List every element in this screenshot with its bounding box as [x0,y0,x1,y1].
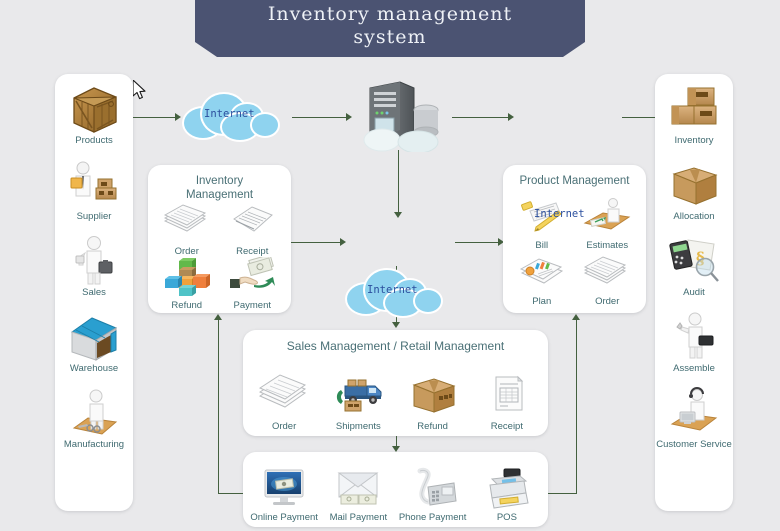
monitor-icon [257,467,311,511]
sidebar-left: Products Supplier [55,74,133,511]
documents-icon [255,372,313,420]
item-label: Order [272,421,296,432]
item-label: POS [497,512,517,523]
sidebar-item-manufacturing[interactable]: Manufacturing [55,386,133,450]
receipt-icon [226,203,278,245]
item-bill[interactable]: Bill [509,195,575,251]
calculator-magnifier-icon: § [666,234,722,286]
group-product-management: Product Management Bill [503,165,646,313]
page-title-banner: Inventory management system [195,0,585,57]
sidebar-item-inventory[interactable]: Inventory [655,82,733,146]
item-refund[interactable]: Refund [396,363,470,432]
sidebar-item-label: Warehouse [70,363,118,374]
sidebar-right: Inventory Allocation [655,74,733,511]
telephone-icon [406,467,460,511]
blocks-icon [161,257,213,299]
item-order[interactable]: Order [247,363,321,432]
mouse-cursor [133,80,149,102]
desk-person-icon [581,197,633,239]
item-label: Bill [535,240,548,251]
group-inventory-management: Inventory Management [148,165,291,313]
item-shipments[interactable]: Shipments [321,363,395,432]
item-label: Order [175,246,199,257]
supplier-person-icon [66,158,122,210]
group-sales-management: Sales Management / Retail Management [243,330,548,436]
chart-documents-icon [516,253,568,295]
sidebar-item-label: Allocation [673,211,714,222]
sidebar-item-audit[interactable]: § Audit [655,234,733,298]
sidebar-item-label: Sales [82,287,106,298]
sidebar-item-supplier[interactable]: Supplier [55,158,133,222]
box-icon [666,158,722,210]
page-title: Inventory management system [268,3,512,49]
salesperson-icon [66,234,122,286]
item-label: Payment [234,300,272,311]
item-label: Refund [171,300,202,311]
item-mail-payment[interactable]: Mail Payment [321,458,395,523]
item-order[interactable]: Order [154,203,220,257]
sidebar-item-label: Manufacturing [64,439,124,450]
truck-icon [329,372,387,420]
item-label: Receipt [236,246,268,257]
sidebar-item-label: Products [75,135,113,146]
item-label: Refund [417,421,448,432]
item-label: Mail Payment [330,512,388,523]
item-pos[interactable]: POS [470,458,544,523]
item-online-payment[interactable]: Online Payment [247,458,321,523]
stacked-boxes-icon [666,82,722,134]
item-refund[interactable]: Refund [154,257,220,311]
cloud-label: Internet [204,108,255,120]
group-title: Inventory Management [148,174,291,202]
item-order[interactable]: Order [575,251,641,307]
cloud-label: Internet [367,284,418,296]
group-payment-methods: Online Payment Mail Payment [243,452,548,527]
group-title: Product Management [503,174,646,188]
item-label: Order [595,296,619,307]
cloud-label: Internet [534,208,585,220]
sidebar-item-customer-service[interactable]: Customer Service [655,386,733,450]
item-estimates[interactable]: Estimates [575,195,641,251]
item-plan[interactable]: Plan [509,251,575,307]
diagram-canvas: Inventory management system [0,0,780,531]
warehouse-icon [66,310,122,362]
hand-money-icon [226,257,278,299]
sidebar-item-label: Inventory [674,135,713,146]
item-label: Shipments [336,421,381,432]
envelope-icon [331,467,385,511]
item-payment[interactable]: Payment [220,257,286,311]
sidebar-item-assemble[interactable]: Assemble [655,310,733,374]
sidebar-item-label: Assemble [673,363,715,374]
manufacturing-icon [66,386,122,438]
item-label: Plan [532,296,551,307]
documents-icon [581,253,633,295]
item-label: Receipt [491,421,523,432]
cash-register-icon [480,467,534,511]
sidebar-item-products[interactable]: Products [55,82,133,146]
group-title: Sales Management / Retail Management [243,339,548,353]
box-icon [404,372,462,420]
assembler-person-icon [666,310,722,362]
cloud-internet-left[interactable]: Internet [182,92,292,142]
headset-agent-icon [666,386,722,438]
sidebar-item-label: Audit [683,287,705,298]
item-receipt[interactable]: Receipt [470,363,544,432]
server-stack[interactable] [352,78,448,152]
sidebar-item-sales[interactable]: Sales [55,234,133,298]
cloud-internet-center[interactable]: Internet [345,268,455,318]
item-label: Phone Payment [399,512,467,523]
documents-icon [161,203,213,245]
sidebar-item-allocation[interactable]: Allocation [655,158,733,222]
sidebar-item-warehouse[interactable]: Warehouse [55,310,133,374]
crate-icon [66,82,122,134]
sidebar-item-label: Customer Service [656,439,732,450]
sidebar-item-label: Supplier [77,211,112,222]
item-receipt[interactable]: Receipt [220,203,286,257]
server-tower-icon [352,78,448,152]
item-label: Estimates [586,240,628,251]
item-label: Online Payment [250,512,318,523]
receipt-icon [478,372,536,420]
item-phone-payment[interactable]: Phone Payment [396,458,470,523]
